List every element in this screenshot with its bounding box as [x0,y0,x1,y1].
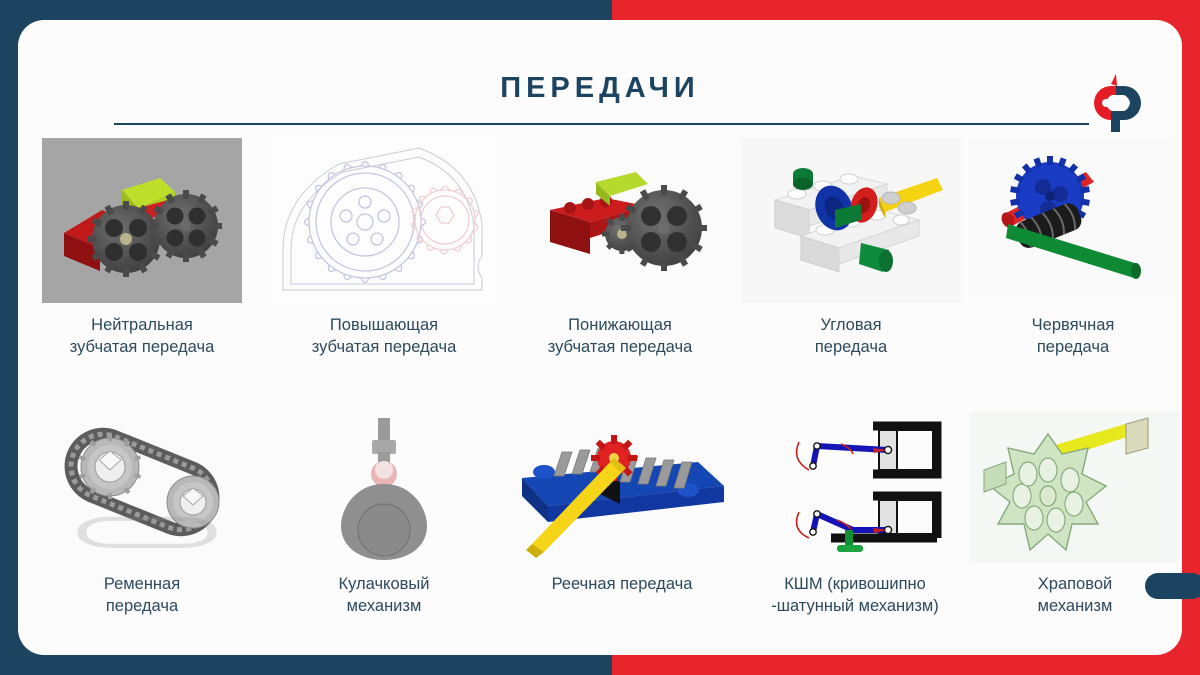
thumb-lego-rack-and-pinion-yellow-axle [502,412,742,562]
thumb-lego-worm-gear-blue-wheel [968,138,1178,303]
slide-root: ПЕРЕДАЧИ [0,0,1200,675]
item-cam-mechanism[interactable]: Кулачковый механизм [266,412,502,618]
thumb-crank-slider-schematic-two-variants [755,412,955,562]
item-angular-drive[interactable]: Угловая передача [738,138,964,359]
item-belt-chain-drive[interactable]: Ременная передача [18,412,266,618]
item-caption: Нейтральная зубчатая передача [70,314,215,359]
item-caption: Храповой механизм [1038,573,1113,618]
item-caption: КШМ (кривошипно -шатунный механизм) [771,573,939,618]
item-speed-reducing-gear-drive[interactable]: Понижающая зубчатая передача [502,138,738,359]
page-title: ПЕРЕДАЧИ [18,72,1182,105]
edge-accent-pill [1145,573,1200,599]
item-row-2: Ременная передача [18,412,1182,618]
thumb-lego-small-gear-driving-large-gear [510,138,730,303]
item-neutral-gear-drive[interactable]: Нейтральная зубчатая передача [18,138,266,359]
thumb-green-ratchet-wheel-yellow-pawl [970,412,1180,562]
item-caption: Червячная передача [1032,314,1115,359]
item-caption: Кулачковый механизм [339,573,430,618]
thumb-line-drawing-gear-pair-housing [269,138,499,303]
thumb-lego-bevel-gear-assembly [741,138,961,303]
item-caption: Ременная передача [104,573,180,618]
thumb-metal-chain-two-sprockets [42,412,242,562]
item-row-1: Нейтральная зубчатая передача [18,138,1182,359]
item-rack-and-pinion-drive[interactable]: Реечная передача [502,412,742,618]
item-caption: Реечная передача [552,573,693,595]
thumb-cam-and-follower-diagram [319,412,449,562]
item-caption: Понижающая зубчатая передача [548,314,693,359]
item-caption: Повышающая зубчатая передача [312,314,457,359]
fr-robot-logo [1078,66,1150,138]
item-speed-increasing-gear-drive[interactable]: Повышающая зубчатая передача [266,138,502,359]
content-card: ПЕРЕДАЧИ [18,20,1182,655]
item-crank-slider-mechanism[interactable]: КШМ (кривошипно -шатунный механизм) [742,412,968,618]
item-caption: Угловая передача [815,314,887,359]
thumb-lego-two-gears-gray-background [42,138,242,303]
item-worm-drive[interactable]: Червячная передача [964,138,1182,359]
title-divider [114,123,1089,125]
